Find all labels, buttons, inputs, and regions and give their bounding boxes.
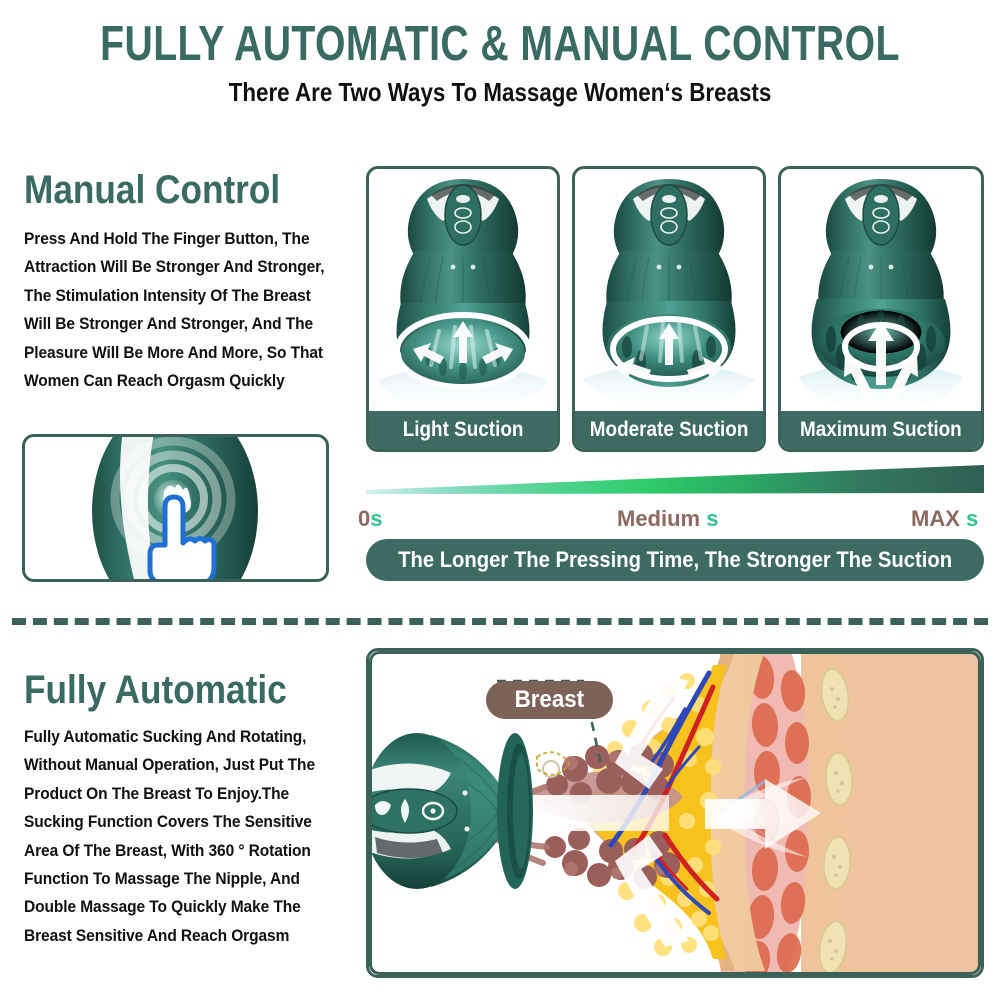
manual-control-paragraph: Press And Hold The Finger Button, The At… <box>24 225 334 395</box>
scale-label-medium: Medium s <box>617 506 719 532</box>
header: FULLY AUTOMATIC & MANUAL CONTROL There A… <box>0 0 1000 108</box>
finger-button-panel <box>22 434 329 582</box>
manual-control-heading: Manual Control <box>24 168 280 213</box>
suction-caption-maximum: Maximum Suction <box>781 411 981 449</box>
device-light-suction <box>369 171 557 411</box>
scale-label-max: MAX s <box>911 506 978 532</box>
page-subtitle: There Are Two Ways To Massage Women‘s Br… <box>70 77 930 108</box>
infographic-root: FULLY AUTOMATIC & MANUAL CONTROL There A… <box>0 0 1000 1000</box>
suction-time-banner: The Longer The Pressing Time, The Strong… <box>366 539 984 581</box>
breast-anatomy-illustration <box>369 651 981 975</box>
device-maximum-suction <box>783 171 979 411</box>
page-title: FULLY AUTOMATIC & MANUAL CONTROL <box>100 20 900 69</box>
finger-button-illustration <box>25 437 326 579</box>
suction-stage-moderate <box>575 169 763 411</box>
suction-strength-gradient <box>366 463 984 495</box>
section-divider <box>12 618 988 625</box>
device-moderate-suction <box>575 171 763 411</box>
fully-automatic-paragraph: Fully Automatic Sucking And Rotating, Wi… <box>24 723 334 950</box>
suction-panel-maximum: Maximum Suction <box>778 166 984 452</box>
anatomy-panel <box>366 648 984 978</box>
suction-stage-light <box>369 169 557 411</box>
suction-caption-moderate: Moderate Suction <box>575 411 763 449</box>
breast-callout-badge: Breast <box>486 681 613 719</box>
scale-label-left: 0s <box>358 506 383 532</box>
suction-stage-maximum <box>781 169 981 411</box>
suction-caption-light: Light Suction <box>369 411 557 449</box>
suction-panel-light: Light Suction <box>366 166 560 452</box>
fully-automatic-heading: Fully Automatic <box>24 668 287 713</box>
suction-panel-moderate: Moderate Suction <box>572 166 766 452</box>
